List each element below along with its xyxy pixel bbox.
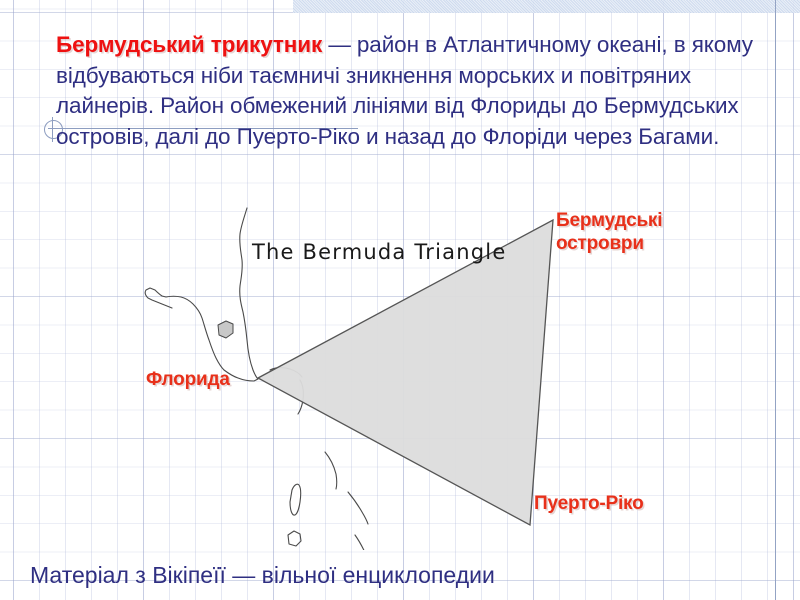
lead-term: Бермудський трикутник bbox=[56, 32, 322, 57]
top-decorative-band bbox=[293, 0, 800, 13]
bahamas-chain4-icon bbox=[355, 535, 367, 550]
bahamas-chain2-icon bbox=[325, 452, 337, 489]
map-label-puerto-rico: Пуерто-Ріко bbox=[534, 492, 644, 515]
bahamas-small-island-icon bbox=[290, 484, 301, 515]
body-paragraph: Бермудський трикутник — район в Атлантич… bbox=[56, 30, 776, 152]
map-label-florida: Флорида bbox=[146, 368, 230, 391]
bahamas-chain3-icon bbox=[348, 492, 368, 524]
map-title: The Bermuda Triangle bbox=[252, 240, 506, 264]
map-label-bermuda-line2: островри bbox=[556, 232, 662, 255]
florida-coastline-icon bbox=[145, 208, 258, 381]
slide-canvas: Бермудський трикутник — район в Атлантич… bbox=[0, 0, 800, 600]
lake-okeechobee-icon bbox=[218, 321, 233, 338]
map-label-bermuda: Бермудські островри bbox=[556, 209, 662, 255]
map-label-bermuda-line1: Бермудські bbox=[556, 209, 662, 232]
bahamas-tiny-cluster-icon bbox=[288, 531, 301, 546]
footer-source-text: Матеріал з Вікіпеїї — вільної енциклопед… bbox=[30, 562, 495, 589]
bermuda-triangle-shape bbox=[258, 220, 553, 525]
